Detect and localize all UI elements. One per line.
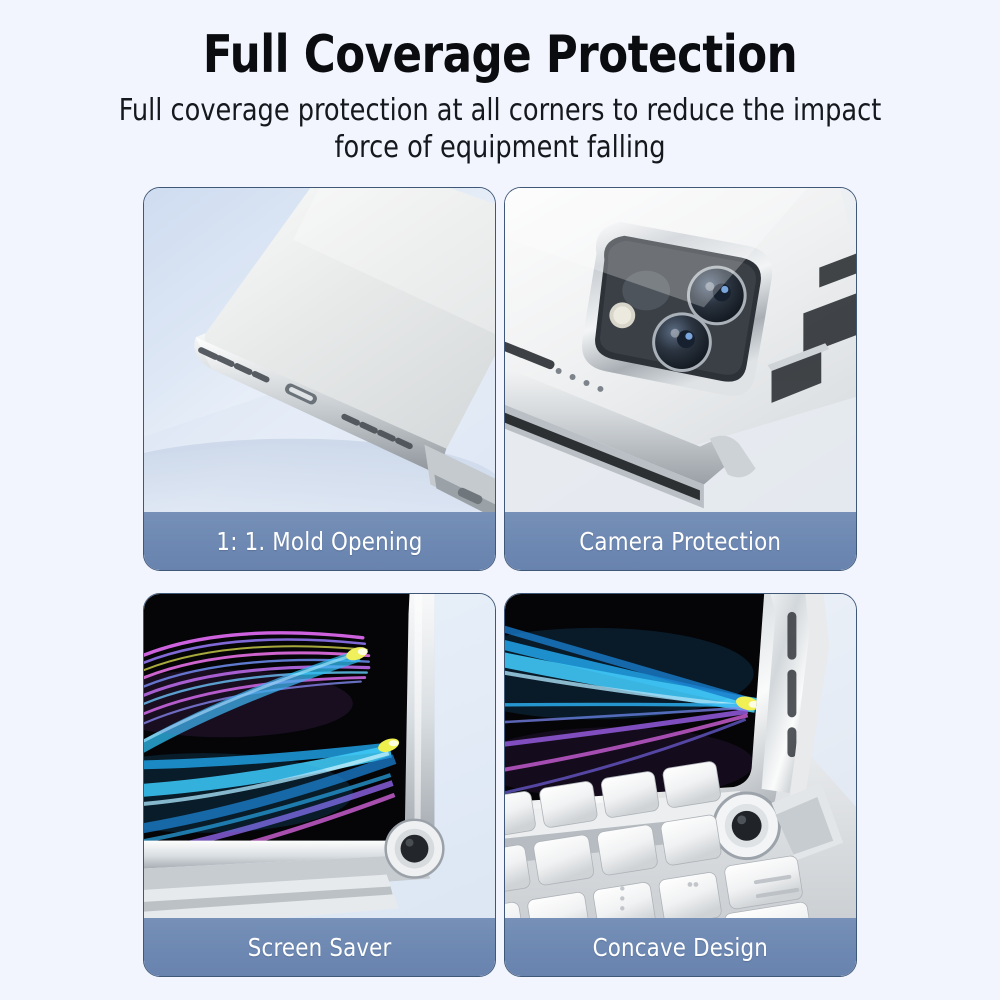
feature-panel-mold-opening[interactable]: 1: 1. Mold Opening — [143, 187, 496, 571]
page-subtitle-line-1: Full coverage protection at all corners … — [25, 92, 975, 129]
feature-panel-concave-design[interactable]: Concave Design — [504, 593, 857, 977]
caption-bar: 1: 1. Mold Opening — [143, 512, 496, 571]
caption-label: Camera Protection — [580, 527, 782, 556]
caption-label: Screen Saver — [248, 933, 392, 962]
caption-bar: Screen Saver — [143, 918, 496, 977]
page-title: Full Coverage Protection — [35, 26, 965, 84]
header: Full Coverage Protection Full coverage p… — [0, 0, 1000, 166]
caption-label: Concave Design — [593, 933, 768, 962]
caption-bar: Camera Protection — [504, 512, 857, 571]
product-feature-page: Full Coverage Protection Full coverage p… — [0, 0, 1000, 1000]
feature-panel-camera-protection[interactable]: Camera Protection — [504, 187, 857, 571]
feature-grid: 1: 1. Mold Opening — [143, 187, 857, 977]
page-subtitle-line-2: force of equipment falling — [25, 129, 975, 166]
caption-bar: Concave Design — [504, 918, 857, 977]
feature-panel-screen-saver[interactable]: Screen Saver — [143, 593, 496, 977]
caption-label: 1: 1. Mold Opening — [216, 527, 422, 556]
